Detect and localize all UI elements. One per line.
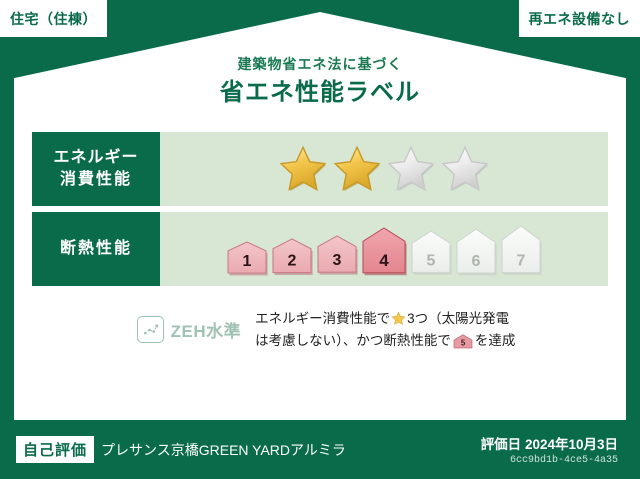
star-filled-icon <box>277 144 329 194</box>
energy-consumption-label: エネルギー 消費性能 <box>32 132 160 206</box>
energy-consumption-value <box>160 132 608 206</box>
grade-number: 6 <box>472 253 481 270</box>
star-filled-icon <box>331 144 383 194</box>
energy-label-line1: エネルギー <box>53 147 138 169</box>
zeh-desc-part1: エネルギー消費性能で <box>255 311 390 326</box>
grade-badge-2: 2 <box>271 237 313 278</box>
inline-star-icon <box>391 311 406 326</box>
insulation-label-text: 断熱性能 <box>60 238 132 260</box>
star-empty-icon <box>385 144 437 194</box>
label-footer: 自己評価 プレサンス京橋GREEN YARDアルミラ 評価日 2024年10月3… <box>0 420 640 479</box>
zeh-standard-note: ZEH水準 エネルギー消費性能で3つ（太陽光発電は考慮しない）、かつ断熱性能で5… <box>32 308 608 353</box>
zeh-desc-part3: を達成 <box>475 333 516 348</box>
grade-number: 1 <box>243 253 252 270</box>
inline-grade-badge: 5 <box>453 334 473 349</box>
grade-number: 7 <box>517 253 526 270</box>
grade-badge-7: 7 <box>500 224 542 278</box>
renewable-energy-badge: 再エネ設備なし <box>519 0 640 37</box>
self-evaluation-badge: 自己評価 <box>16 436 94 463</box>
star-empty-icon <box>439 144 491 194</box>
footer-left: 自己評価 プレサンス京橋GREEN YARDアルミラ <box>16 436 481 463</box>
label-panel: 建築物省エネ法に基づく 省エネ性能ラベル エネルギー 消費性能 <box>14 12 626 420</box>
insulation-performance-label: 断熱性能 <box>32 212 160 286</box>
page-title: 省エネ性能ラベル <box>32 79 608 108</box>
grade-badge-3: 3 <box>316 234 358 277</box>
energy-label-line2: 消費性能 <box>60 169 132 191</box>
property-name: プレサンス京橋GREEN YARDアルミラ <box>101 440 346 460</box>
title-subtitle: 建築物省エネ法に基づく <box>32 56 608 73</box>
insulation-performance-row: 断熱性能 1234567 <box>32 212 608 286</box>
insulation-performance-value: 1234567 <box>160 212 608 286</box>
footer-right: 評価日 2024年10月3日 6cc9bd1b-4ce5-4a35 <box>481 433 624 466</box>
zeh-mark-label: ZEH水準 <box>171 317 242 342</box>
grade-number: 2 <box>288 253 297 270</box>
energy-performance-label: 住宅（住棟） 再エネ設備なし 建築物省エネ法に基づく 省エネ性能ラベル エネルギ… <box>0 0 640 479</box>
grade-badge-5: 5 <box>410 229 452 277</box>
zeh-desc-part2: は考慮しない）、かつ断熱性能で <box>255 333 451 348</box>
svg-text:5: 5 <box>461 338 466 347</box>
energy-consumption-row: エネルギー 消費性能 <box>32 132 608 206</box>
grade-scale: 1234567 <box>226 220 542 278</box>
grade-badge-1: 1 <box>226 240 268 278</box>
label-id: 6cc9bd1b-4ce5-4a35 <box>481 455 618 466</box>
star-rating <box>277 144 491 194</box>
evaluation-date: 評価日 2024年10月3日 <box>481 433 618 453</box>
grade-number: 4 <box>379 251 389 270</box>
zeh-mark: ZEH水準 <box>137 316 242 343</box>
trend-chart-icon <box>137 316 164 343</box>
grade-number: 3 <box>333 253 342 270</box>
building-type-badge: 住宅（住棟） <box>0 0 107 37</box>
zeh-description: エネルギー消費性能で3つ（太陽光発電は考慮しない）、かつ断熱性能で5を達成 <box>255 308 515 353</box>
ratings-section: エネルギー 消費性能 断熱性能 1234567 <box>32 132 608 286</box>
grade-badge-4: 4 <box>361 226 407 278</box>
zeh-desc-stars: 3つ（太陽光発電 <box>407 311 509 326</box>
grade-number: 5 <box>427 253 436 270</box>
grade-badge-6: 6 <box>455 227 497 278</box>
